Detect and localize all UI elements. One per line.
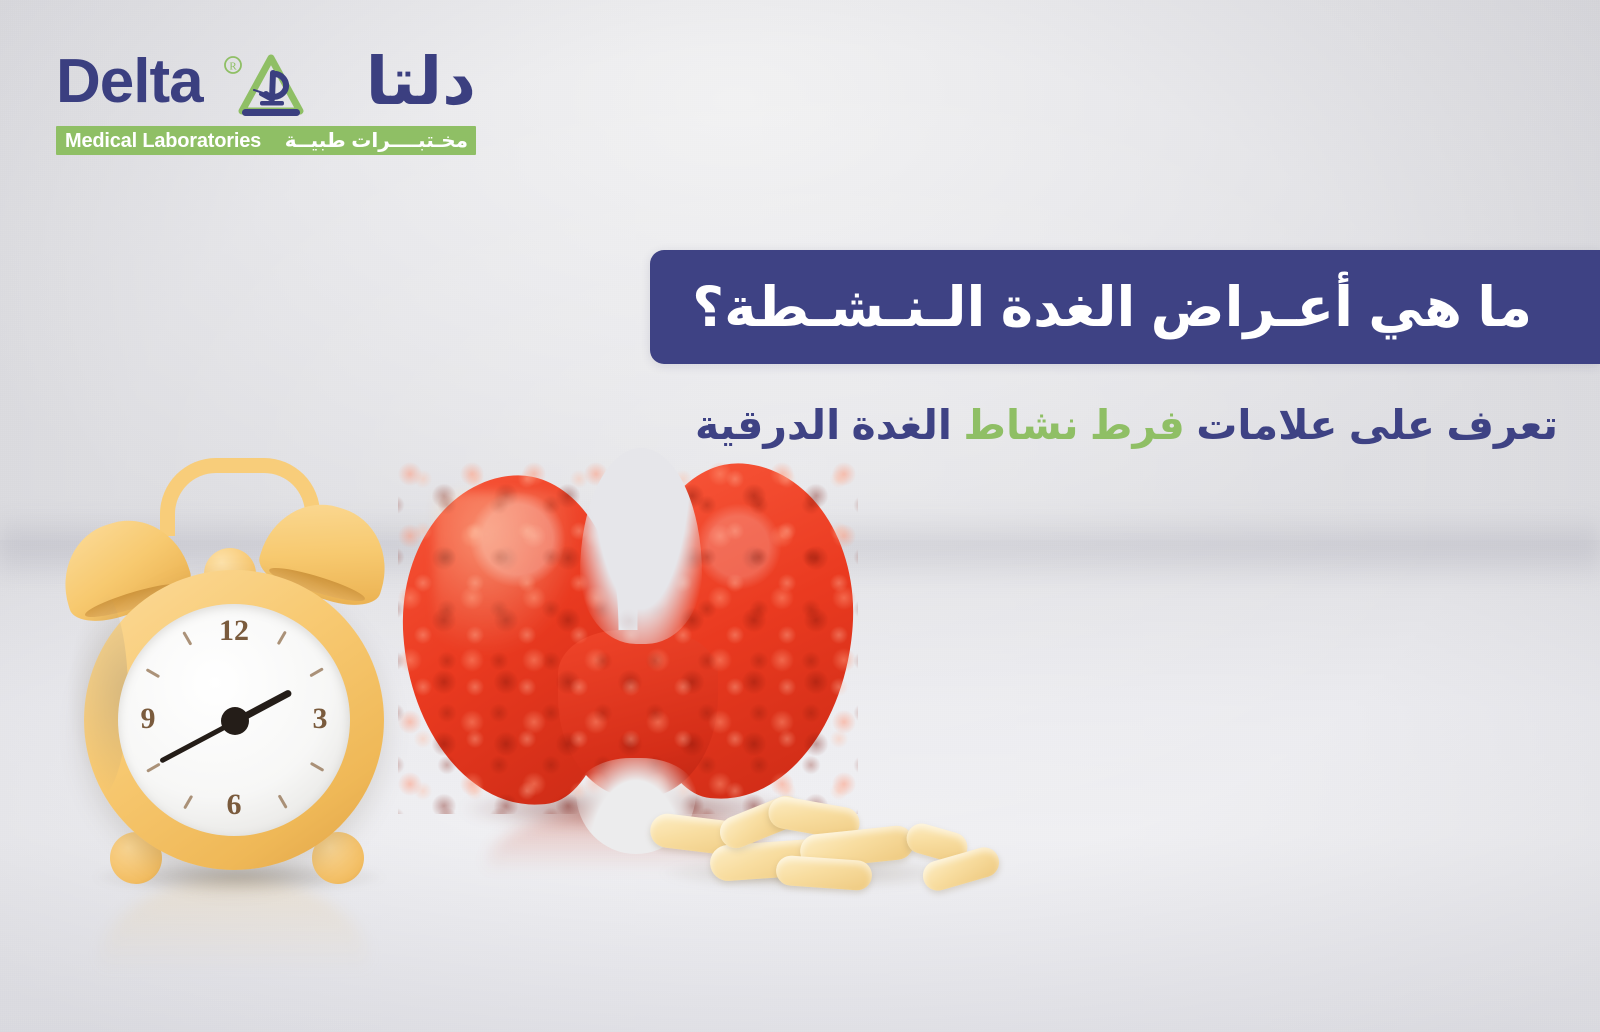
clock-case: 12 3 6 9 bbox=[84, 570, 384, 870]
clock-bezel-shadow bbox=[68, 588, 128, 798]
headline-text: ما هي أعـراض الغدة الـنـشـطة؟ bbox=[692, 250, 1600, 364]
logo-wordmark-row: Delta R bbox=[56, 48, 476, 122]
logo-tagline-latin: Medical Laboratories bbox=[65, 127, 261, 155]
clock-tick bbox=[146, 763, 160, 773]
subtitle: تعرف على علامات فرط نشاط الغدة الدرقية bbox=[658, 396, 1558, 454]
logo-arabic-wordmark: دلتا bbox=[366, 46, 476, 116]
subtitle-highlight: فرط نشاط bbox=[963, 402, 1184, 448]
clock-numeral-12: 12 bbox=[212, 614, 256, 648]
clock-numeral-3: 3 bbox=[298, 702, 342, 736]
subtitle-tail: الغدة الدرقية bbox=[695, 402, 963, 448]
clock-numeral-6: 6 bbox=[212, 788, 256, 822]
headline-banner: ما هي أعـراض الغدة الـنـشـطة؟ bbox=[650, 250, 1600, 364]
microscope-in-triangle-icon: R bbox=[224, 54, 308, 122]
logo-latin-wordmark: Delta bbox=[56, 50, 203, 114]
clock-tick bbox=[146, 668, 160, 678]
clock-tick bbox=[309, 667, 323, 677]
poster-canvas: Delta R bbox=[0, 0, 1600, 1032]
thyroid-gland-model bbox=[398, 462, 858, 832]
clock-reflection bbox=[100, 878, 368, 998]
logo-tagline-arabic: مخـتبــــرات طبيــة bbox=[285, 126, 468, 156]
clock-tick bbox=[183, 795, 193, 809]
alarm-clock: 12 3 6 9 bbox=[64, 448, 414, 898]
thyroid-specular-highlight bbox=[434, 492, 584, 662]
clock-tick bbox=[278, 794, 288, 808]
clock-tick bbox=[310, 762, 324, 772]
clock-face: 12 3 6 9 bbox=[118, 604, 350, 836]
svg-text:R: R bbox=[229, 61, 237, 73]
clock-center-pin bbox=[221, 707, 249, 735]
brand-logo[interactable]: Delta R bbox=[56, 48, 476, 156]
clock-tick bbox=[277, 631, 287, 645]
capsule-pills bbox=[650, 788, 1010, 918]
subtitle-lead: تعرف على علامات bbox=[1185, 402, 1558, 448]
clock-numeral-9: 9 bbox=[126, 702, 170, 736]
clock-tick bbox=[182, 631, 192, 645]
